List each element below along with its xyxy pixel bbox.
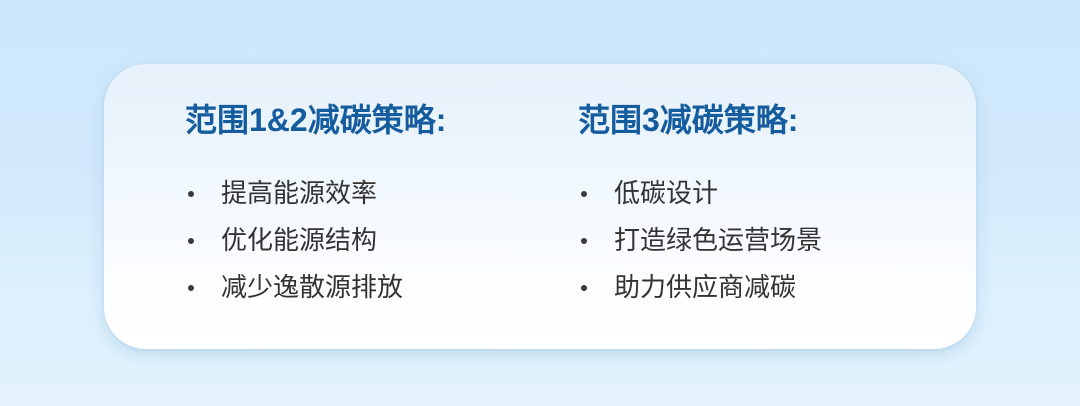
bullet-dot-icon bbox=[188, 285, 194, 291]
bullet-dot-icon bbox=[581, 285, 587, 291]
list-item-label: 优化能源结构 bbox=[221, 217, 377, 264]
column-heading-scope-1-2: 范围1&2减碳策略: bbox=[185, 100, 446, 140]
bullet-dot-icon bbox=[581, 191, 587, 197]
list-item-label: 助力供应商减碳 bbox=[614, 264, 796, 311]
bullet-list-scope-1-2: 提高能源效率 优化能源结构 减少逸散源排放 bbox=[185, 170, 403, 311]
bullet-dot-icon bbox=[188, 238, 194, 244]
list-item: 打造绿色运营场景 bbox=[578, 217, 822, 264]
bullet-list-scope-3: 低碳设计 打造绿色运营场景 助力供应商减碳 bbox=[578, 170, 822, 311]
list-item: 低碳设计 bbox=[578, 170, 822, 217]
list-item-label: 提高能源效率 bbox=[221, 170, 377, 217]
list-item: 减少逸散源排放 bbox=[185, 264, 403, 311]
bullet-dot-icon bbox=[581, 238, 587, 244]
list-item: 助力供应商减碳 bbox=[578, 264, 822, 311]
strategy-columns: 范围1&2减碳策略: 提高能源效率 优化能源结构 减少逸散源排放 bbox=[104, 64, 976, 349]
list-item: 优化能源结构 bbox=[185, 217, 403, 264]
column-heading-scope-3: 范围3减碳策略: bbox=[578, 100, 798, 140]
list-item-label: 打造绿色运营场景 bbox=[614, 217, 822, 264]
list-item-label: 低碳设计 bbox=[614, 170, 718, 217]
list-item: 提高能源效率 bbox=[185, 170, 403, 217]
bullet-dot-icon bbox=[188, 191, 194, 197]
strategy-card: 范围1&2减碳策略: 提高能源效率 优化能源结构 减少逸散源排放 bbox=[104, 64, 976, 349]
slide-canvas: 范围1&2减碳策略: 提高能源效率 优化能源结构 减少逸散源排放 bbox=[0, 0, 1080, 406]
list-item-label: 减少逸散源排放 bbox=[221, 264, 403, 311]
